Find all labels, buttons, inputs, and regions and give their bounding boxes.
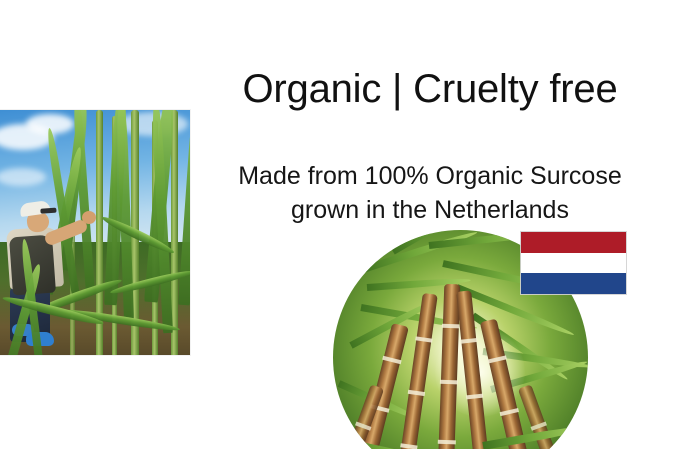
cane-node xyxy=(355,421,371,430)
flag-band-white xyxy=(521,253,626,274)
cane-frond xyxy=(333,436,441,449)
cane-node xyxy=(466,394,483,400)
subheadline-line-1: Made from 100% Organic Surcose xyxy=(190,160,670,194)
cane-node xyxy=(460,338,477,344)
cane-node xyxy=(531,421,547,430)
product-infographic: Organic | Cruelty free Made from 100% Or… xyxy=(0,0,679,449)
flag-band-blue xyxy=(521,273,626,294)
flag-band-red xyxy=(521,232,626,253)
cane-node xyxy=(382,356,401,364)
cane-node xyxy=(400,443,417,449)
subheadline-line-2: grown in the Netherlands xyxy=(190,194,670,228)
cane-node xyxy=(487,355,506,363)
sugarcane-stalk xyxy=(437,284,460,449)
cane-node xyxy=(408,390,425,396)
cane-node xyxy=(415,336,432,342)
page-subheadline: Made from 100% Organic Surcose grown in … xyxy=(190,160,670,227)
cane-node xyxy=(440,380,458,385)
page-headline: Organic | Cruelty free xyxy=(190,68,670,111)
farmer-sugarcane-photo xyxy=(0,110,190,355)
farmer-hand xyxy=(82,211,96,224)
cane-node xyxy=(442,324,460,329)
cane-node xyxy=(500,408,519,416)
cane-node xyxy=(438,440,456,445)
netherlands-flag xyxy=(521,232,626,294)
